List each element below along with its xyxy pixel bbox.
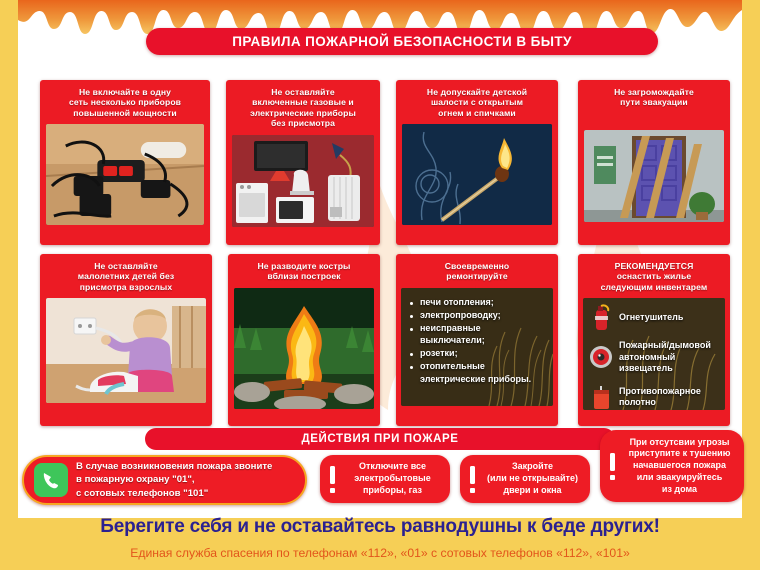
card-children-matches[interactable]: Не допускайте детскойшалости с открытымо… (396, 80, 558, 245)
card-unattended-appliances[interactable]: Не оставляйтевключенные газовые иэлектри… (226, 80, 380, 245)
repair-list-panel: печи отопления; электропроводку; неиспра… (401, 288, 553, 406)
action-line: приборы, газ (363, 485, 422, 495)
action-line: или эвакуируйтесь (637, 472, 722, 482)
actions-title: ДЕЙСТВИЯ ПРИ ПОЖАРЕ (301, 433, 458, 445)
equipment-row: Противопожарное полотно (583, 378, 725, 410)
fire-extinguisher-icon (588, 302, 614, 332)
card-recommended-equipment-caption: РЕКОМЕНДУЕТСЯоснастить жильеследующим ин… (578, 254, 730, 298)
poster-title-bar: ПРАВИЛА ПОЖАРНОЙ БЕЗОПАСНОСТИ В БЫТУ (146, 28, 658, 55)
repair-list: печи отопления; электропроводку; неиспра… (401, 288, 553, 393)
phone-icon (34, 463, 68, 497)
action-line: приступите к тушению (629, 448, 731, 458)
list-item: печи отопления; (409, 296, 547, 309)
action-turn-off-text: Отключите все электробытовые приборы, га… (343, 461, 442, 496)
burning-match-photo (402, 124, 552, 225)
equipment-panel: Огнетушитель Пожарный/дымовой автономный… (583, 298, 725, 410)
action-line: (или не открывайте) (487, 473, 578, 483)
equipment-row: Пожарный/дымовой автономный извещатель (583, 336, 725, 378)
child-with-iron-photo (46, 298, 206, 403)
actions-title-bar: ДЕЙСТВИЯ ПРИ ПОЖАРЕ (145, 428, 615, 450)
card-evacuation-routes-caption: Не загромождайтепути эвакуации (578, 80, 730, 114)
exclamation-icon (328, 464, 337, 494)
call-line-2: в пожарную охрану "01", (76, 474, 195, 485)
card-bonfires-caption: Не разводите кострывблизи построек (228, 254, 380, 288)
card-children-matches-caption: Не допускайте детскойшалости с открытымо… (396, 80, 558, 124)
list-item: неисправные выключатели; (409, 322, 547, 348)
bonfire-photo (234, 288, 374, 409)
home-appliances-photo (232, 135, 374, 227)
action-extinguish-or-evacuate[interactable]: При отсутсвии угрозы приступите к тушени… (600, 430, 744, 502)
exclamation-icon (608, 451, 617, 481)
equipment-label: Огнетушитель (619, 312, 683, 323)
call-line-3: с сотовых телефонов "101" (76, 488, 208, 499)
card-timely-repair[interactable]: Своевременноремонтируйте печи отоплени (396, 254, 558, 426)
fire-blanket-icon (588, 382, 614, 410)
action-close-doors-text: Закройте (или не открывайте) двери и окн… (483, 461, 582, 496)
card-timely-repair-caption: Своевременноремонтируйте (396, 254, 558, 288)
action-line: Закройте (512, 461, 553, 471)
list-item: розетки; (409, 347, 547, 360)
equipment-label: Противопожарное полотно (619, 386, 720, 409)
action-turn-off[interactable]: Отключите все электробытовые приборы, га… (320, 455, 450, 503)
card-bonfires[interactable]: Не разводите кострывблизи построек (228, 254, 380, 426)
action-line: начавшегося пожара (633, 460, 726, 470)
card-children-unattended[interactable]: Не оставляйтемалолетних детей безприсмот… (40, 254, 212, 426)
action-line: из дома (662, 484, 697, 494)
rules-card-grid: Не включайте в однусеть несколько прибор… (0, 60, 760, 425)
action-line: электробытовые (354, 473, 431, 483)
page-title: ПРАВИЛА ПОЖАРНОЙ БЕЗОПАСНОСТИ В БЫТУ (232, 34, 572, 49)
card-recommended-equipment[interactable]: РЕКОМЕНДУЕТСЯоснастить жильеследующим ин… (578, 254, 730, 426)
card-overload[interactable]: Не включайте в однусеть несколько прибор… (40, 80, 210, 245)
footer-emergency-numbers: Единая служба спасения по телефонам «112… (0, 546, 760, 560)
footer-slogan: Берегите себя и не оставайтесь равнодушн… (0, 516, 760, 538)
overloaded-power-strip-photo (46, 124, 204, 225)
equipment-label: Пожарный/дымовой автономный извещатель (619, 340, 720, 374)
call-line-1: В случае возникновения пожара звоните (76, 461, 272, 472)
action-extinguish-text: При отсутсвии угрозы приступите к тушени… (623, 437, 736, 495)
card-unattended-appliances-caption: Не оставляйтевключенные газовые иэлектри… (226, 80, 380, 135)
blocked-door-photo (584, 130, 724, 222)
fire-safety-poster: ПРАВИЛА ПОЖАРНОЙ БЕЗОПАСНОСТИ В БЫТУ Не … (0, 0, 760, 570)
list-item: электропроводку; (409, 309, 547, 322)
action-close-doors[interactable]: Закройте (или не открывайте) двери и окн… (460, 455, 590, 503)
card-children-unattended-caption: Не оставляйтемалолетних детей безприсмот… (40, 254, 212, 298)
equipment-row: Огнетушитель (583, 298, 725, 336)
emergency-call-banner[interactable]: В случае возникновения пожара звоните в … (22, 455, 307, 505)
exclamation-icon (468, 464, 477, 494)
smoke-detector-icon (588, 342, 614, 372)
card-overload-caption: Не включайте в однусеть несколько прибор… (40, 80, 210, 124)
action-line: При отсутсвии угрозы (630, 437, 730, 447)
action-line: двери и окна (503, 485, 561, 495)
emergency-call-text: В случае возникновения пожара звоните в … (76, 460, 272, 500)
action-line: Отключите все (359, 461, 426, 471)
card-evacuation-routes[interactable]: Не загромождайтепути эвакуации (578, 80, 730, 245)
list-item: отопительные электрические приборы. (409, 360, 547, 386)
